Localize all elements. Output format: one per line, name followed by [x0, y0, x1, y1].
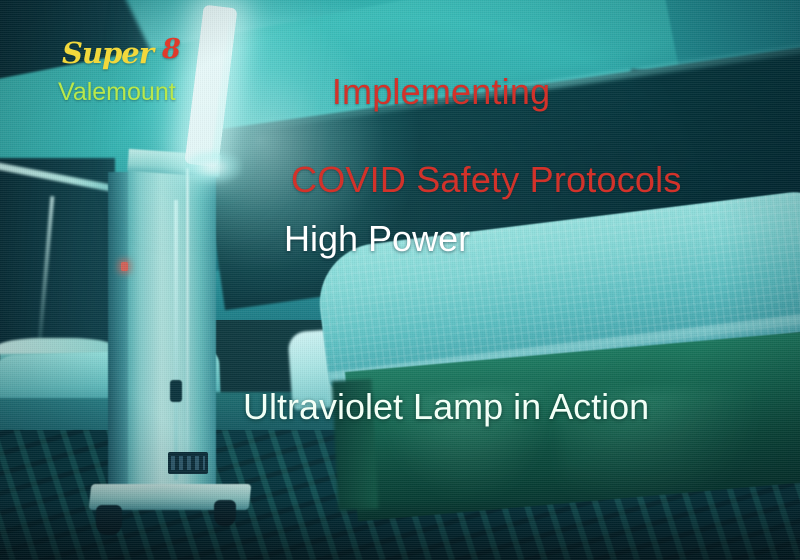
- logo-brand-number: 8: [162, 34, 181, 65]
- uv-lamp-control-keypad[interactable]: [171, 456, 205, 470]
- uv-lamp-body-seam: [186, 168, 189, 488]
- uv-lamp-rod-clamp: [170, 380, 182, 402]
- caster-wheel: [96, 505, 122, 535]
- caption-uv-lamp-in-action: Ultraviolet Lamp in Action: [243, 385, 649, 429]
- headline-line-1: Implementing: [332, 71, 551, 112]
- caster-wheel: [214, 500, 236, 526]
- super-8-valemount-logo: Super 8 Valemount: [56, 36, 216, 116]
- uv-lamp-support-rod: [174, 200, 178, 480]
- logo-brand-text: Super: [62, 36, 153, 70]
- uv-lamp-body: [128, 160, 216, 490]
- headline-line-2: COVID Safety Protocols: [291, 158, 682, 202]
- power-indicator-led: [121, 262, 128, 271]
- logo-location-text: Valemount: [58, 78, 176, 107]
- photo-frame: Super 8 Valemount Implementing COVID Saf…: [0, 0, 800, 560]
- caption-high-power: High Power: [284, 217, 470, 261]
- uv-lamp-tube-base-flare: [182, 150, 242, 184]
